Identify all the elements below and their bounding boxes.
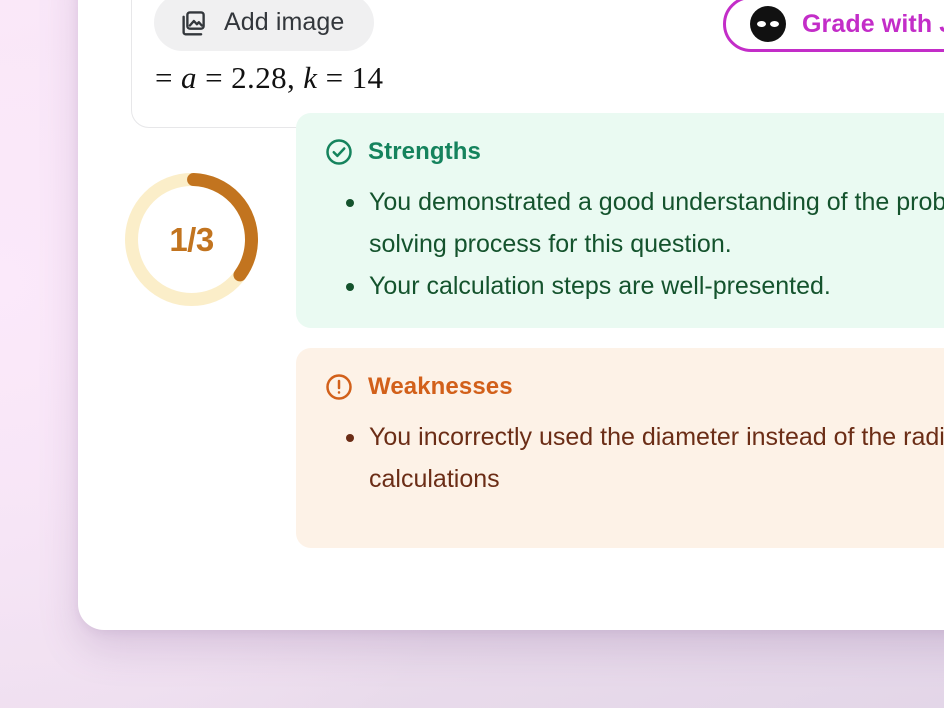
score-value: 1/3 xyxy=(125,173,258,306)
grade-with-jojo-ai-button[interactable]: Grade with Jojo AI xyxy=(723,0,944,52)
strengths-header: Strengths xyxy=(324,137,944,167)
math-expression: = a = 2.28, k = 14 xyxy=(155,60,383,96)
weaknesses-panel: Weaknesses You incorrectly used the diam… xyxy=(296,348,944,548)
circle-check-icon xyxy=(324,137,354,167)
answer-composer-box: = a = 2.28, k = 14 Add image Grade with … xyxy=(131,0,944,128)
add-image-button[interactable]: Add image xyxy=(154,0,374,51)
list-item: You demonstrated a good understanding of… xyxy=(324,181,944,265)
grading-card: = a = 2.28, k = 14 Add image Grade with … xyxy=(78,0,944,630)
weaknesses-title: Weaknesses xyxy=(368,373,513,401)
strengths-title: Strengths xyxy=(368,138,481,166)
add-image-label: Add image xyxy=(224,8,344,37)
composer-actions: Add image Grade with Jojo AI xyxy=(154,0,944,54)
strengths-panel: Strengths You demonstrated a good unders… xyxy=(296,113,944,328)
weaknesses-header: Weaknesses xyxy=(324,372,944,402)
grade-with-jojo-ai-label: Grade with Jojo AI xyxy=(802,10,944,39)
list-item: You incorrectly used the diameter instea… xyxy=(324,416,944,500)
score-ring: 1/3 xyxy=(125,173,258,306)
strengths-list: You demonstrated a good understanding of… xyxy=(324,181,944,307)
weaknesses-list: You incorrectly used the diameter instea… xyxy=(324,416,944,500)
images-stack-icon xyxy=(178,8,208,38)
circle-exclamation-icon xyxy=(324,372,354,402)
jojo-ninja-avatar-icon xyxy=(750,6,786,42)
list-item: Your calculation steps are well-presente… xyxy=(324,265,944,307)
